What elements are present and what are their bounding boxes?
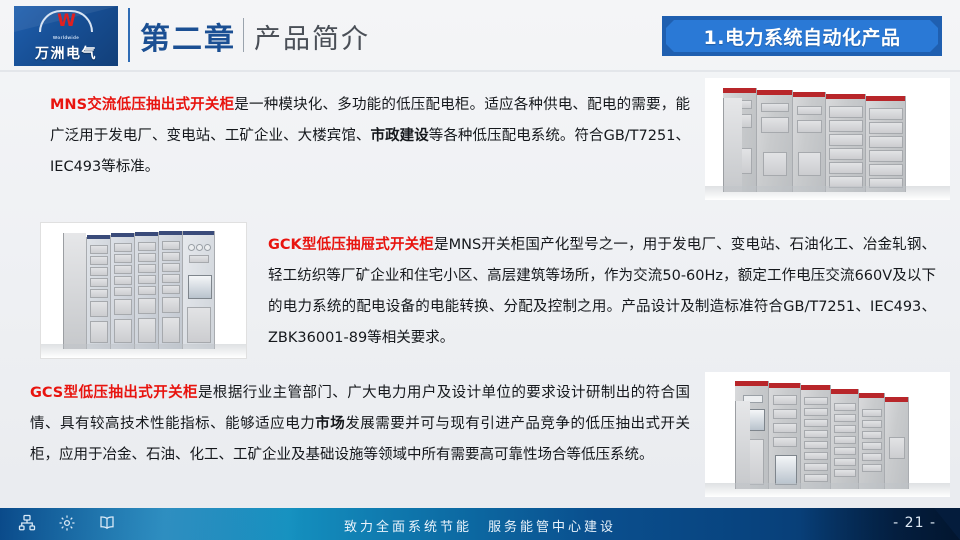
paragraph-gck-body: 是MNS开关柜国产化型号之一，用于发电厂、变电站、石油化工、冶金轧钢、轻工纺织等… (268, 237, 936, 346)
header-bottom-rule (0, 70, 960, 72)
logo-emblem-icon: W (39, 10, 93, 34)
company-logo: W Worldwide 万洲电气 (14, 6, 118, 66)
paragraph-mns: MNS交流低压抽出式开关柜是一种模块化、多功能的低压配电柜。适应各种供电、配电的… (50, 90, 690, 183)
footer-slogan: 致力全面系统节能 服务能管中心建设 (0, 516, 960, 535)
product-image-gcs (705, 372, 950, 497)
logo-letter: W (39, 12, 93, 30)
paragraph-gcs: GCS型低压抽出式开关柜是根据行业主管部门、广大电力用户及设计单位的要求设计研制… (30, 378, 690, 471)
paragraph-gck: GCK型低压抽屉式开关柜是MNS开关柜国产化型号之一，用于发电厂、变电站、石油化… (268, 230, 936, 354)
product-image-mns (705, 78, 950, 200)
paragraph-mns-keyword: MNS交流低压抽出式开关柜 (50, 97, 234, 113)
logo-latin-text: Worldwide (53, 35, 79, 40)
slide-canvas: W Worldwide 万洲电气 第二章 产品简介 1.电力系统自动化产品 MN… (0, 0, 960, 540)
logo-company-name: 万洲电气 (35, 43, 97, 63)
paragraph-gck-keyword: GCK型低压抽屉式开关柜 (268, 237, 434, 253)
product-image-gck (40, 222, 247, 359)
page-number: - 21 - (893, 515, 936, 531)
section-banner-inner: 1.电力系统自动化产品 (666, 20, 938, 52)
page-title: 产品简介 (254, 17, 370, 56)
header-accent-bar (128, 8, 130, 62)
paragraph-mns-bold: 市政建设 (371, 128, 429, 144)
section-banner: 1.电力系统自动化产品 (662, 16, 942, 56)
slide-footer: 致力全面系统节能 服务能管中心建设 - 21 - (0, 508, 960, 540)
title-divider (243, 18, 244, 52)
chapter-title: 第二章 (140, 14, 236, 58)
paragraph-gcs-bold: 市场 (315, 416, 345, 432)
paragraph-gcs-keyword: GCS型低压抽出式开关柜 (30, 385, 198, 401)
section-banner-label: 1.电力系统自动化产品 (704, 23, 901, 50)
